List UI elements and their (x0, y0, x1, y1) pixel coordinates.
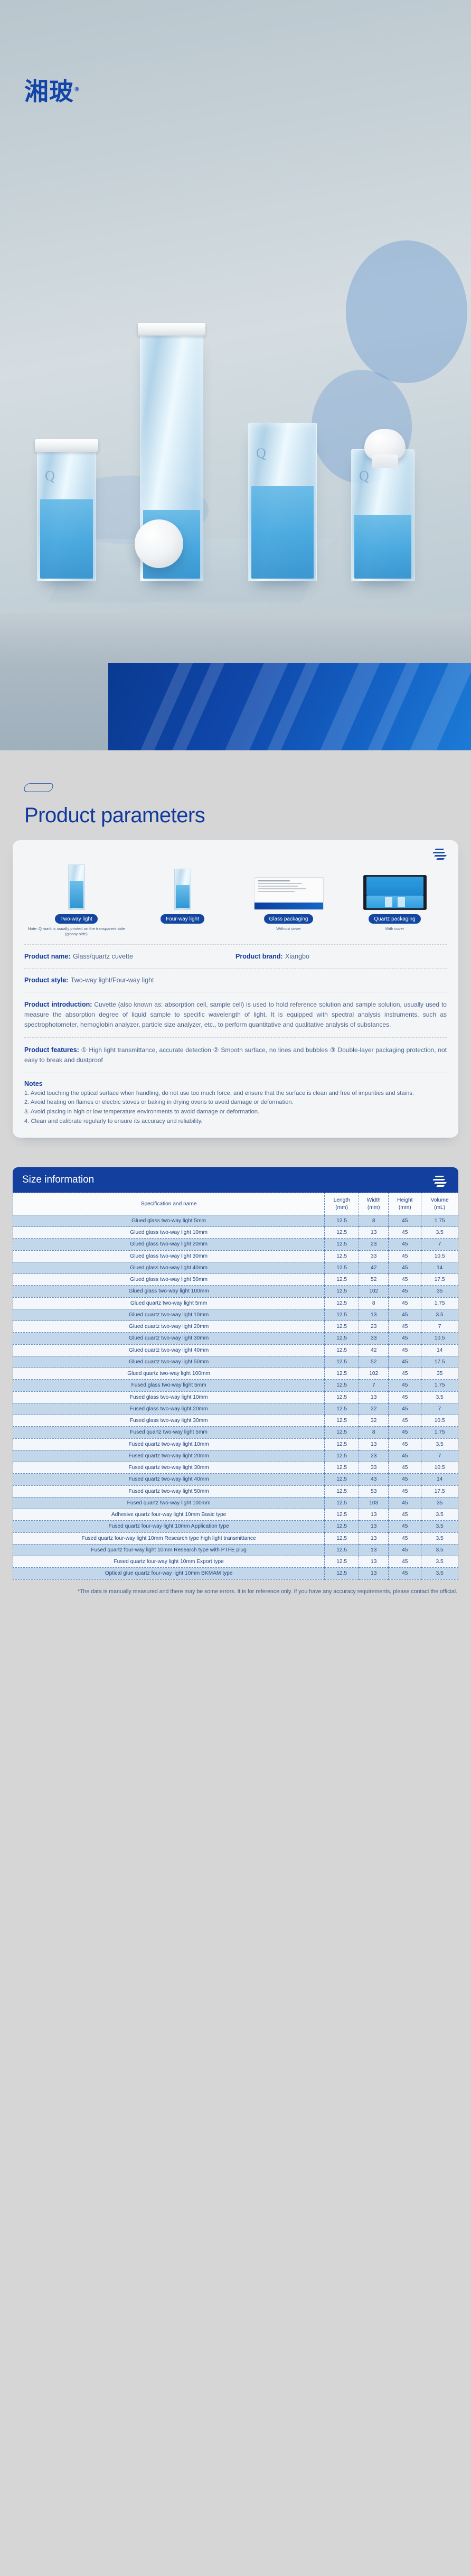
table-row: Fused quartz four-way light 10mm Researc… (13, 1532, 458, 1544)
thumbnail-note: With cover (343, 926, 447, 932)
column-header-height: Height(mm) (389, 1193, 421, 1215)
cell-value: 45 (389, 1286, 421, 1297)
cell-specification: Fused quartz two-way light 30mm (13, 1462, 325, 1474)
cell-value: 42 (359, 1344, 389, 1356)
cell-value: 45 (389, 1356, 421, 1368)
cell-specification: Glued glass two-way light 40mm (13, 1262, 325, 1273)
cuvette-four-way-icon (130, 853, 234, 910)
cell-value: 12.5 (325, 1521, 359, 1532)
cell-value: 33 (359, 1250, 389, 1262)
cell-specification: Fused glass two-way light 5mm (13, 1380, 325, 1391)
q-mark-icon: Q (45, 468, 55, 484)
cell-value: 45 (389, 1521, 421, 1532)
cell-value: 13 (359, 1544, 389, 1556)
cell-value: 12.5 (325, 1568, 359, 1579)
note-item: 1. Avoid touching the optical surface wh… (24, 1089, 447, 1099)
cell-value: 7 (359, 1380, 389, 1391)
divider (24, 1037, 447, 1038)
cell-value: 3.5 (421, 1309, 458, 1320)
cell-specification: Fused quartz four-way light 10mm Researc… (13, 1544, 325, 1556)
cell-value: 45 (389, 1250, 421, 1262)
table-row: Fused quartz two-way light 40mm12.543451… (13, 1474, 458, 1485)
product-features: Product features: ① High light transmitt… (24, 1045, 447, 1066)
cell-value: 45 (389, 1450, 421, 1462)
q-mark-note: Note: Q mark is usually printed on the t… (24, 926, 128, 937)
cell-specification: Fused quartz four-way light 10mm Export … (13, 1556, 325, 1568)
table-row: Glued glass two-way light 40mm12.5424514 (13, 1262, 458, 1273)
cell-value: 12.5 (325, 1368, 359, 1380)
cell-specification: Fused quartz two-way light 50mm (13, 1485, 325, 1497)
cuvette-cap-icon (35, 439, 98, 452)
cell-value: 1.75 (421, 1427, 458, 1438)
cell-value: 12.5 (325, 1344, 359, 1356)
cell-specification: Fused quartz two-way light 5mm (13, 1427, 325, 1438)
cell-value: 45 (389, 1274, 421, 1286)
cell-value: 12.5 (325, 1462, 359, 1474)
cell-value: 10.5 (421, 1250, 458, 1262)
cell-specification: Glued quartz two-way light 5mm (13, 1297, 325, 1309)
column-header-volume: Volume(mL) (421, 1193, 458, 1215)
table-row: Glued glass two-way light 50mm12.5524517… (13, 1274, 458, 1286)
cell-value: 7 (421, 1403, 458, 1415)
thumbnail-quartz-packaging[interactable]: Quartz packaging With cover (343, 853, 447, 937)
cell-value: 53 (359, 1485, 389, 1497)
product-brand-label: Product brand: (235, 953, 283, 960)
cell-value: 33 (359, 1462, 389, 1474)
cell-specification: Glued quartz two-way light 10mm (13, 1309, 325, 1320)
product-page: 湘玻® Q Q Q (0, 0, 471, 1617)
cuvette-item: Q (248, 423, 317, 581)
cuvette-cap-icon (138, 323, 205, 336)
cell-specification: Fused quartz two-way light 20mm (13, 1450, 325, 1462)
cell-value: 45 (389, 1438, 421, 1450)
cell-value: 13 (359, 1568, 389, 1579)
size-information-header: Size information (13, 1167, 458, 1193)
cell-value: 12.5 (325, 1509, 359, 1521)
table-row: Fused quartz two-way light 100mm12.51034… (13, 1497, 458, 1509)
cell-value: 12.5 (325, 1239, 359, 1250)
cuvette-photo-stage: Q Q Q (0, 296, 471, 581)
thumbnail-glass-packaging[interactable]: Glass packaging Without cover (237, 853, 341, 937)
cell-value: 12.5 (325, 1485, 359, 1497)
cell-value: 45 (389, 1474, 421, 1485)
table-row: Glued quartz two-way light 30mm12.533451… (13, 1333, 458, 1344)
cell-specification: Glued glass two-way light 10mm (13, 1227, 325, 1239)
table-row: Glued glass two-way light 10mm12.513453.… (13, 1227, 458, 1239)
cell-value: 102 (359, 1368, 389, 1380)
cell-value: 32 (359, 1415, 389, 1427)
size-information-table: Specification and name Length(mm) Width(… (13, 1193, 458, 1579)
table-row: Glued glass two-way light 5mm12.58451.75 (13, 1215, 458, 1226)
cell-value: 45 (389, 1403, 421, 1415)
cell-value: 45 (389, 1509, 421, 1521)
cell-value: 3.5 (421, 1556, 458, 1568)
cell-value: 8 (359, 1297, 389, 1309)
cell-value: 17.5 (421, 1356, 458, 1368)
cell-value: 12.5 (325, 1497, 359, 1509)
cell-specification: Glued quartz two-way light 30mm (13, 1333, 325, 1344)
cell-value: 13 (359, 1509, 389, 1521)
cell-value: 33 (359, 1333, 389, 1344)
cell-value: 45 (389, 1239, 421, 1250)
cell-value: 45 (389, 1427, 421, 1438)
cell-value: 45 (389, 1368, 421, 1380)
cell-value: 52 (359, 1356, 389, 1368)
cell-value: 14 (421, 1474, 458, 1485)
cell-value: 3.5 (421, 1509, 458, 1521)
cell-value: 23 (359, 1450, 389, 1462)
cell-value: 45 (389, 1391, 421, 1403)
product-parameters-section: Product parameters (0, 783, 471, 827)
cell-value: 12.5 (325, 1250, 359, 1262)
table-row: Fused glass two-way light 5mm12.57451.75 (13, 1380, 458, 1391)
cell-value: 12.5 (325, 1321, 359, 1333)
cell-value: 12.5 (325, 1427, 359, 1438)
cell-value: 13 (359, 1391, 389, 1403)
cell-specification: Fused quartz four-way light 10mm Applica… (13, 1521, 325, 1532)
table-row: Glued quartz two-way light 100mm12.51024… (13, 1368, 458, 1380)
q-mark-icon: Q (256, 445, 266, 461)
brand-logo-superscript: ® (74, 86, 80, 93)
cell-value: 10.5 (421, 1333, 458, 1344)
brand-logo-text: 湘玻 (24, 77, 74, 106)
cell-value: 12.5 (325, 1262, 359, 1273)
cell-value: 14 (421, 1344, 458, 1356)
cell-value: 12.5 (325, 1544, 359, 1556)
cell-value: 45 (389, 1344, 421, 1356)
table-row: Adhesive quartz four-way light 10mm Basi… (13, 1509, 458, 1521)
product-thumbnail-row: Two-way light Note: Q mark is usually pr… (24, 850, 447, 937)
cell-specification: Glued glass two-way light 100mm (13, 1286, 325, 1297)
table-row: Fused quartz four-way light 10mm Researc… (13, 1544, 458, 1556)
thumbnail-two-way-light[interactable]: Two-way light Note: Q mark is usually pr… (24, 853, 128, 937)
cell-value: 17.5 (421, 1485, 458, 1497)
cell-specification: Adhesive quartz four-way light 10mm Basi… (13, 1509, 325, 1521)
size-information-title: Size information (22, 1174, 94, 1185)
cell-value: 45 (389, 1227, 421, 1239)
table-row: Glued quartz two-way light 10mm12.513453… (13, 1309, 458, 1320)
table-row: Fused quartz two-way light 5mm12.58451.7… (13, 1427, 458, 1438)
cell-value: 45 (389, 1544, 421, 1556)
product-features-text: ① High light transmittance, accurate det… (24, 1046, 447, 1064)
cell-value: 12.5 (325, 1380, 359, 1391)
cell-value: 1.75 (421, 1297, 458, 1309)
cell-value: 42 (359, 1262, 389, 1273)
cell-specification: Fused quartz four-way light 10mm Researc… (13, 1532, 325, 1544)
table-row: Fused quartz four-way light 10mm Applica… (13, 1521, 458, 1532)
product-style-row: Product style: Two-way light/Four-way li… (24, 975, 447, 985)
table-row: Fused glass two-way light 20mm12.522457 (13, 1403, 458, 1415)
cell-value: 13 (359, 1532, 389, 1544)
pill-tag-icon (23, 783, 54, 792)
cell-value: 1.75 (421, 1215, 458, 1226)
cell-value: 13 (359, 1556, 389, 1568)
cell-specification: Fused quartz two-way light 100mm (13, 1497, 325, 1509)
cell-value: 7 (421, 1321, 458, 1333)
cell-value: 7 (421, 1239, 458, 1250)
cell-value: 12.5 (325, 1297, 359, 1309)
cell-value: 12.5 (325, 1532, 359, 1544)
note-item: 3. Avoid placing in high or low temperat… (24, 1108, 447, 1117)
cell-value: 35 (421, 1286, 458, 1297)
table-row: Glued quartz two-way light 40mm12.542451… (13, 1344, 458, 1356)
decorative-sphere (135, 519, 183, 568)
cell-value: 103 (359, 1497, 389, 1509)
cell-specification: Fused glass two-way light 20mm (13, 1403, 325, 1415)
cell-value: 3.5 (421, 1391, 458, 1403)
cell-value: 7 (421, 1450, 458, 1462)
table-row: Glued glass two-way light 100mm12.510245… (13, 1286, 458, 1297)
cuvette-item: Q (351, 449, 415, 581)
note-item: 2. Avoid heating on flames or electric s… (24, 1098, 447, 1108)
thumbnail-badge: Glass packaging (264, 914, 314, 924)
product-name-label: Product name: (24, 953, 71, 960)
divider (24, 968, 447, 969)
table-row: Glued quartz two-way light 50mm12.552451… (13, 1356, 458, 1368)
cuvette-liquid (251, 486, 314, 579)
cell-specification: Fused quartz two-way light 40mm (13, 1474, 325, 1485)
cell-value: 45 (389, 1497, 421, 1509)
table-row: Fused quartz two-way light 30mm12.533451… (13, 1462, 458, 1474)
cell-specification: Glued quartz two-way light 50mm (13, 1356, 325, 1368)
quartz-packaging-case-icon (343, 853, 447, 910)
notes-title: Notes (24, 1080, 447, 1087)
cell-value: 13 (359, 1521, 389, 1532)
column-header-specification: Specification and name (13, 1193, 325, 1215)
thumbnail-note: Without cover (237, 926, 341, 932)
note-item: 4. Clean and calibrate regularly to ensu… (24, 1117, 447, 1127)
table-row: Fused quartz two-way light 10mm12.513453… (13, 1438, 458, 1450)
cell-value: 3.5 (421, 1521, 458, 1532)
product-style-value: Two-way light/Four-way light (71, 977, 154, 984)
cell-value: 12.5 (325, 1333, 359, 1344)
cell-value: 45 (389, 1333, 421, 1344)
cell-value: 8 (359, 1215, 389, 1226)
column-header-width: Width(mm) (359, 1193, 389, 1215)
cell-specification: Glued glass two-way light 20mm (13, 1239, 325, 1250)
slash-mark-icon (433, 1176, 447, 1187)
column-header-length: Length(mm) (325, 1193, 359, 1215)
cell-value: 52 (359, 1274, 389, 1286)
table-row: Fused quartz two-way light 50mm12.553451… (13, 1485, 458, 1497)
cell-value: 10.5 (421, 1462, 458, 1474)
cell-specification: Glued glass two-way light 30mm (13, 1250, 325, 1262)
table-row: Glued quartz two-way light 5mm12.58451.7… (13, 1297, 458, 1309)
table-row: Optical glue quartz four-way light 10mm … (13, 1568, 458, 1579)
hero-blue-panel (108, 663, 471, 750)
slash-mark-icon (433, 849, 447, 860)
thumbnail-badge: Four-way light (161, 914, 204, 924)
cell-value: 23 (359, 1321, 389, 1333)
product-name-row: Product name: Glass/quartz cuvette Produ… (24, 952, 447, 961)
cell-value: 12.5 (325, 1415, 359, 1427)
cell-value: 35 (421, 1497, 458, 1509)
cell-value: 22 (359, 1403, 389, 1415)
product-introduction-label: Product introduction: (24, 1001, 92, 1008)
table-row: Glued glass two-way light 30mm12.5334510… (13, 1250, 458, 1262)
table-row: Fused quartz two-way light 20mm12.523457 (13, 1450, 458, 1462)
cell-value: 12.5 (325, 1556, 359, 1568)
disclaimer-note: *The data is manually measured and there… (14, 1587, 457, 1596)
table-row: Fused glass two-way light 10mm12.513453.… (13, 1391, 458, 1403)
cuvette-liquid (354, 515, 411, 579)
cell-value: 45 (389, 1297, 421, 1309)
cell-value: 45 (389, 1215, 421, 1226)
page-title: Product parameters (24, 804, 458, 827)
cell-specification: Glued glass two-way light 50mm (13, 1274, 325, 1286)
cell-value: 17.5 (421, 1274, 458, 1286)
cell-value: 3.5 (421, 1568, 458, 1579)
table-row: Glued quartz two-way light 20mm12.523457 (13, 1321, 458, 1333)
cell-value: 45 (389, 1568, 421, 1579)
cell-value: 45 (389, 1321, 421, 1333)
cell-value: 12.5 (325, 1286, 359, 1297)
thumbnail-badge: Two-way light (55, 914, 98, 924)
cell-value: 12.5 (325, 1309, 359, 1320)
cell-value: 3.5 (421, 1532, 458, 1544)
product-features-label: Product features: (24, 1046, 79, 1054)
cell-value: 1.75 (421, 1380, 458, 1391)
cell-value: 3.5 (421, 1227, 458, 1239)
product-style-label: Product style: (24, 977, 68, 984)
cell-value: 45 (389, 1262, 421, 1273)
cell-value: 13 (359, 1309, 389, 1320)
thumbnail-badge: Quartz packaging (369, 914, 420, 924)
product-parameters-card: Two-way light Note: Q mark is usually pr… (13, 840, 458, 1138)
hero-banner: 湘玻® Q Q Q (0, 0, 471, 750)
cell-value: 10.5 (421, 1415, 458, 1427)
cell-specification: Optical glue quartz four-way light 10mm … (13, 1568, 325, 1579)
table-header-row: Specification and name Length(mm) Width(… (13, 1193, 458, 1215)
cell-value: 12.5 (325, 1227, 359, 1239)
cell-value: 12.5 (325, 1356, 359, 1368)
cell-value: 12.5 (325, 1450, 359, 1462)
cell-value: 45 (389, 1485, 421, 1497)
cell-specification: Fused glass two-way light 10mm (13, 1391, 325, 1403)
cell-specification: Glued quartz two-way light 40mm (13, 1344, 325, 1356)
hero-footer-band (0, 613, 471, 750)
cell-value: 14 (421, 1262, 458, 1273)
cell-value: 12.5 (325, 1474, 359, 1485)
cell-value: 3.5 (421, 1438, 458, 1450)
cell-specification: Glued quartz two-way light 20mm (13, 1321, 325, 1333)
product-brand-value: Xiangbo (285, 953, 309, 960)
cell-value: 12.5 (325, 1274, 359, 1286)
table-row: Fused quartz four-way light 10mm Export … (13, 1556, 458, 1568)
cuvette-item: Q (37, 449, 96, 581)
table-body: Glued glass two-way light 5mm12.58451.75… (13, 1215, 458, 1579)
cell-value: 45 (389, 1556, 421, 1568)
brand-logo: 湘玻® (24, 79, 80, 104)
cell-value: 12.5 (325, 1438, 359, 1450)
cell-value: 12.5 (325, 1403, 359, 1415)
cuvette-liquid (40, 499, 93, 579)
table-row: Fused glass two-way light 30mm12.5324510… (13, 1415, 458, 1427)
cell-value: 45 (389, 1415, 421, 1427)
cell-value: 3.5 (421, 1544, 458, 1556)
table-row: Glued glass two-way light 20mm12.523457 (13, 1239, 458, 1250)
cell-specification: Fused glass two-way light 30mm (13, 1415, 325, 1427)
product-introduction: Product introduction: Cuvette (also know… (24, 999, 447, 1030)
cell-value: 45 (389, 1532, 421, 1544)
divider (24, 944, 447, 945)
cell-value: 23 (359, 1239, 389, 1250)
cell-value: 45 (389, 1380, 421, 1391)
glass-packaging-box-icon (237, 853, 341, 910)
size-information-section: Size information Specification and name … (13, 1167, 458, 1579)
cuvette-two-way-icon (24, 853, 128, 910)
divider (24, 1073, 447, 1073)
cell-value: 13 (359, 1227, 389, 1239)
cell-value: 35 (421, 1368, 458, 1380)
cell-specification: Fused quartz two-way light 10mm (13, 1438, 325, 1450)
cell-value: 43 (359, 1474, 389, 1485)
cell-value: 8 (359, 1427, 389, 1438)
ptfe-stopper-icon (364, 429, 406, 460)
thumbnail-four-way-light[interactable]: Four-way light (130, 853, 234, 937)
cell-value: 13 (359, 1438, 389, 1450)
divider (24, 992, 447, 992)
cell-value: 12.5 (325, 1391, 359, 1403)
q-mark-icon: Q (359, 468, 369, 484)
product-name-value: Glass/quartz cuvette (73, 953, 133, 960)
cell-specification: Glued glass two-way light 5mm (13, 1215, 325, 1226)
cell-value: 45 (389, 1462, 421, 1474)
cell-value: 45 (389, 1309, 421, 1320)
cell-value: 102 (359, 1286, 389, 1297)
cell-value: 12.5 (325, 1215, 359, 1226)
cell-specification: Glued quartz two-way light 100mm (13, 1368, 325, 1380)
